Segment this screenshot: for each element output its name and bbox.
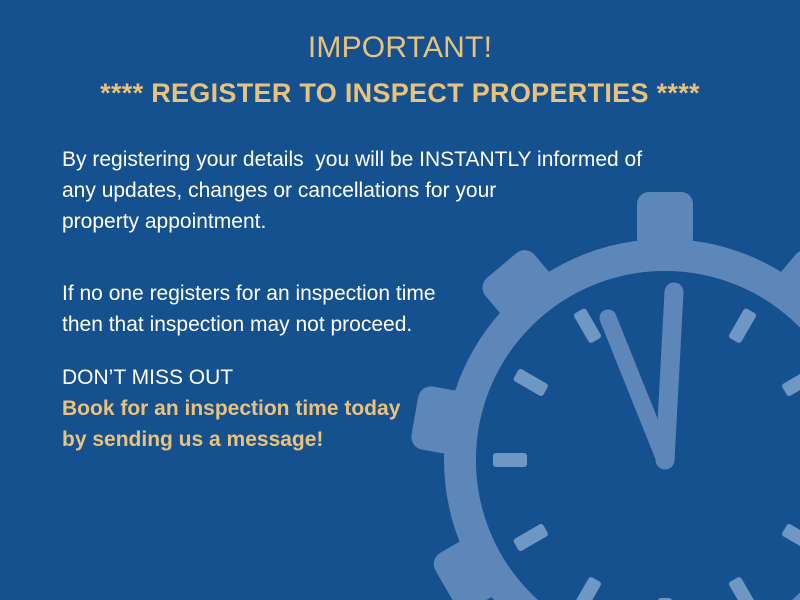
slide-canvas: IMPORTANT! **** REGISTER TO INSPECT PROP… <box>0 0 800 600</box>
content-layer: IMPORTANT! **** REGISTER TO INSPECT PROP… <box>0 0 800 600</box>
cta-book-inspection: Book for an inspection time today <box>62 393 562 424</box>
headline-register: **** REGISTER TO INSPECT PROPERTIES **** <box>0 73 800 113</box>
cta-block: DON’T MISS OUT Book for an inspection ti… <box>62 362 562 455</box>
headline-block: IMPORTANT! **** REGISTER TO INSPECT PROP… <box>0 28 800 113</box>
body-paragraph-1: By registering your details you will be … <box>62 144 722 237</box>
body-paragraph-2: If no one registers for an inspection ti… <box>62 237 722 340</box>
body-block: By registering your details you will be … <box>62 144 722 340</box>
cta-send-message: by sending us a message! <box>62 424 562 455</box>
headline-important: IMPORTANT! <box>0 28 800 68</box>
cta-dont-miss-out: DON’T MISS OUT <box>62 362 562 393</box>
